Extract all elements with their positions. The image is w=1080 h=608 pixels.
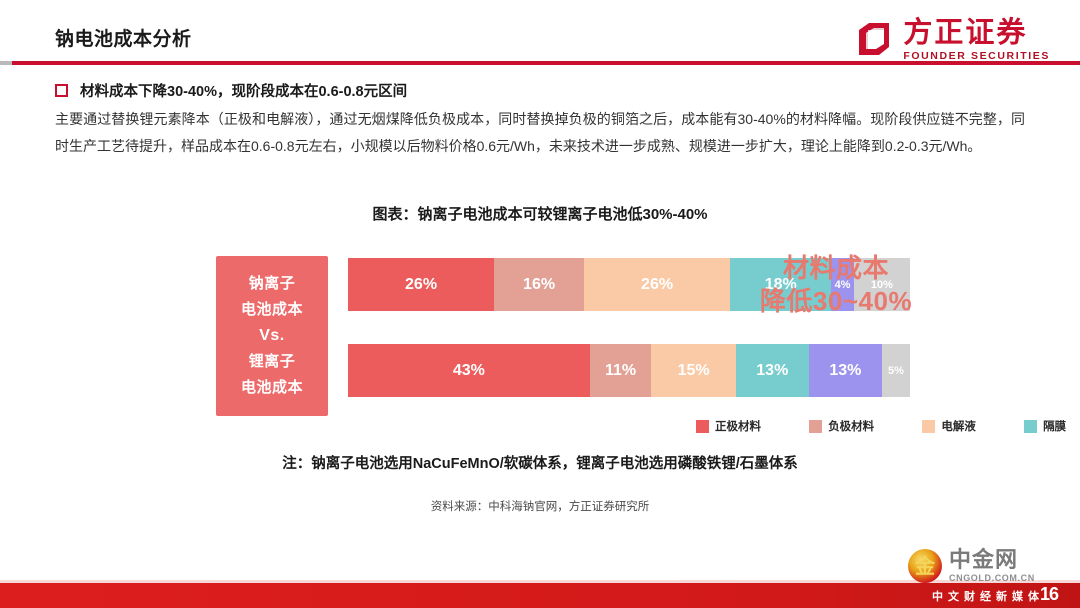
bar-segment: 13% bbox=[736, 344, 809, 397]
legend-swatch-icon bbox=[696, 420, 709, 433]
page-title: 钠电池成本分析 bbox=[55, 24, 192, 51]
founder-logo-icon bbox=[854, 21, 894, 59]
bar-lithium-ion: 43% 11% 15% 13% 13% 5% bbox=[348, 344, 910, 397]
bar-segment: 26% bbox=[584, 258, 730, 311]
legend-swatch-icon bbox=[1024, 420, 1037, 433]
chart-source: 资料来源：中科海钠官网，方正证券研究所 bbox=[0, 498, 1080, 514]
logo-wordmark: 方正证券 FOUNDER SECURITIES bbox=[903, 18, 1050, 62]
cngold-watermark: 金 中金网 CNGOLD.COM.CN 中文财经新媒体 bbox=[904, 549, 1072, 606]
bar-segment: 26% bbox=[348, 258, 494, 311]
watermark-domain: CNGOLD.COM.CN bbox=[949, 574, 1035, 583]
legend-item: 正极材料 bbox=[696, 418, 761, 434]
chart-legend: 正极材料 负极材料 电解液 隔膜 集流体 bbox=[696, 418, 1080, 434]
bar-segment: 11% bbox=[590, 344, 652, 397]
chart-annotation: 材料成本 降低30~40% bbox=[736, 252, 936, 318]
chart-vs-label: 钠离子 电池成本 Vs. 锂离子 电池成本 bbox=[216, 256, 328, 416]
legend-label: 电解液 bbox=[941, 418, 976, 434]
bullet-heading: 材料成本下降30-40%，现阶段成本在0.6-0.8元区间 bbox=[55, 80, 407, 101]
vs-line-4: 锂离子 bbox=[249, 349, 296, 375]
logo-text-en: FOUNDER SECURITIES bbox=[903, 51, 1050, 62]
legend-item: 电解液 bbox=[922, 418, 976, 434]
vs-line-3: Vs. bbox=[259, 323, 285, 349]
watermark-title: 中金网 bbox=[949, 549, 1035, 571]
watermark-names: 中金网 CNGOLD.COM.CN bbox=[949, 549, 1035, 583]
legend-swatch-icon bbox=[809, 420, 822, 433]
vs-line-2: 电池成本 bbox=[241, 297, 303, 323]
legend-label: 正极材料 bbox=[715, 418, 761, 434]
bar-segment: 5% bbox=[882, 344, 910, 397]
bar-segment: 13% bbox=[809, 344, 882, 397]
badge-glyph: 金 bbox=[915, 556, 935, 576]
bar-segment: 43% bbox=[348, 344, 590, 397]
founder-securities-logo: 方正证券 FOUNDER SECURITIES bbox=[854, 18, 1050, 62]
annotation-line-2: 降低30~40% bbox=[736, 285, 936, 318]
bullet-square-icon bbox=[55, 84, 68, 97]
legend-swatch-icon bbox=[922, 420, 935, 433]
legend-item: 负极材料 bbox=[809, 418, 874, 434]
watermark-tagline: 中文财经新媒体 bbox=[904, 585, 1072, 606]
annotation-line-1: 材料成本 bbox=[736, 252, 936, 285]
bar-segment: 16% bbox=[494, 258, 584, 311]
vs-line-5: 电池成本 bbox=[241, 375, 303, 401]
chart-note: 注：钠离子电池选用NaCuFeMnO/软碳体系，锂离子电池选用磷酸铁锂/石墨体系 bbox=[0, 452, 1080, 473]
legend-label: 隔膜 bbox=[1043, 418, 1066, 434]
bullet-heading-text: 材料成本下降30-40%，现阶段成本在0.6-0.8元区间 bbox=[80, 80, 407, 101]
bar-segment: 15% bbox=[651, 344, 735, 397]
watermark-logo: 金 中金网 CNGOLD.COM.CN bbox=[904, 549, 1072, 583]
cngold-badge-icon: 金 bbox=[908, 549, 942, 583]
slide-root: 钠电池成本分析 方正证券 FOUNDER SECURITIES 材料成本下降30… bbox=[0, 0, 1080, 608]
logo-text-cn: 方正证券 bbox=[903, 18, 1050, 47]
chart-caption: 图表：钠离子电池成本可较锂离子电池低30%-40% bbox=[0, 203, 1080, 224]
legend-label: 负极材料 bbox=[828, 418, 874, 434]
body-paragraph: 主要通过替换锂元素降本（正极和电解液），通过无烟煤降低负极成本，同时替换掉负极的… bbox=[55, 106, 1025, 159]
legend-item: 隔膜 bbox=[1024, 418, 1066, 434]
vs-line-1: 钠离子 bbox=[249, 271, 296, 297]
